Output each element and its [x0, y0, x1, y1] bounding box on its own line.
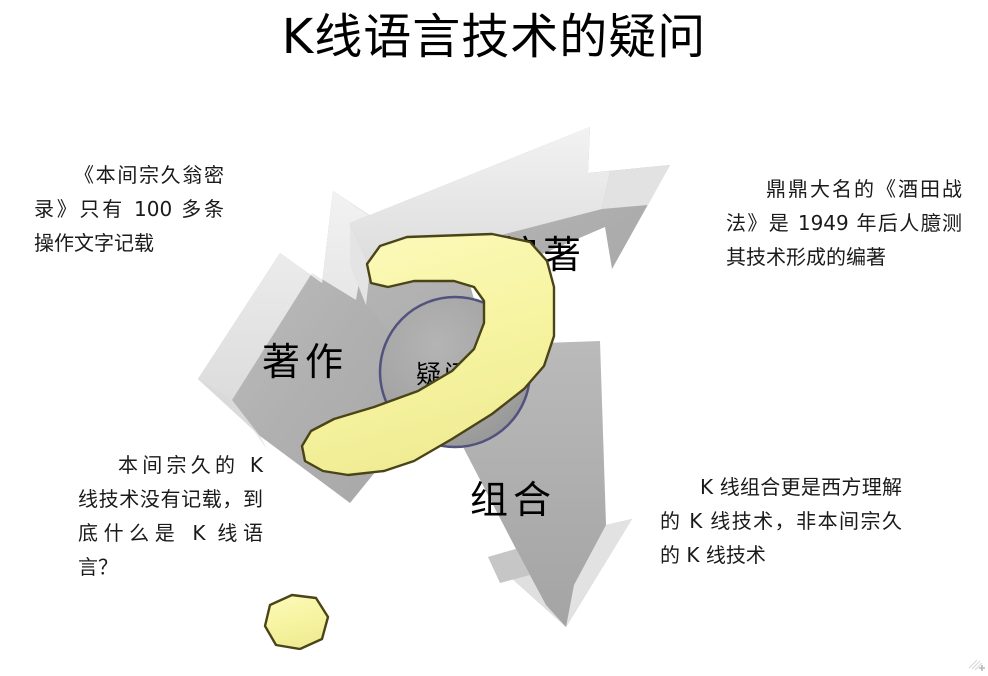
question-mark-dot	[265, 595, 328, 649]
slide-canvas: K线语言技术的疑问	[0, 0, 988, 674]
resize-handle-icon[interactable]	[968, 656, 986, 672]
note-top-right: 鼎鼎大名的《酒田战法》是 1949 年后人臆测其技术形成的编著	[726, 172, 962, 274]
page-title: K线语言技术的疑问	[0, 6, 988, 68]
note-bottom-right: K 线组合更是西方理解的 K 线技术，非本间宗久的 K 线技术	[660, 470, 902, 572]
arrow-label-upper-left: 著作	[262, 340, 348, 384]
note-bottom-left: 本间宗久的 K 线技术没有记载，到底什么是 K 线语言？	[78, 448, 263, 584]
arrow-label-lower-right: 组合	[470, 478, 556, 522]
note-top-left: 《本间宗久翁密录》只有 100 多条操作文字记载	[34, 158, 224, 260]
